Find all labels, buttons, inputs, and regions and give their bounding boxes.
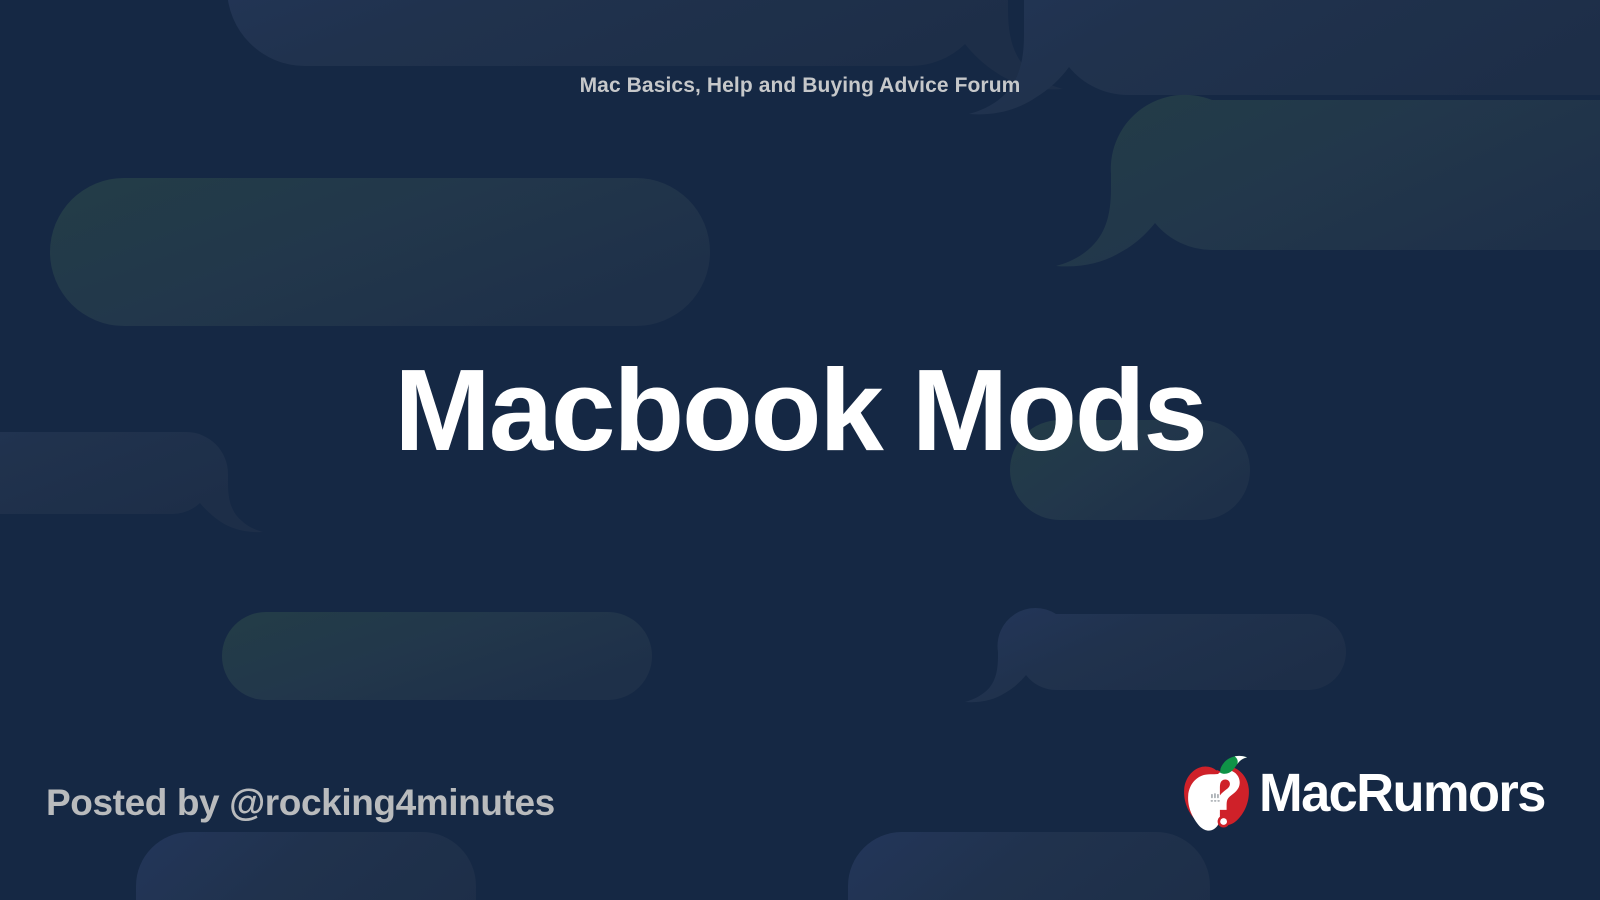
forum-name[interactable]: Mac Basics, Help and Buying Advice Forum [0,74,1600,98]
apple-seed-marks [1211,793,1220,801]
share-card: Mac Basics, Help and Buying Advice Forum… [0,0,1600,900]
apple-question-mark-icon [1179,750,1253,836]
byline: Posted by @rocking4minutes [46,782,555,824]
content-layer: Mac Basics, Help and Buying Advice Forum… [0,0,1600,900]
page-title: Macbook Mods [0,352,1600,468]
macrumors-logo[interactable]: MacRumors [1179,750,1554,836]
brand-name: MacRumors [1259,766,1545,820]
